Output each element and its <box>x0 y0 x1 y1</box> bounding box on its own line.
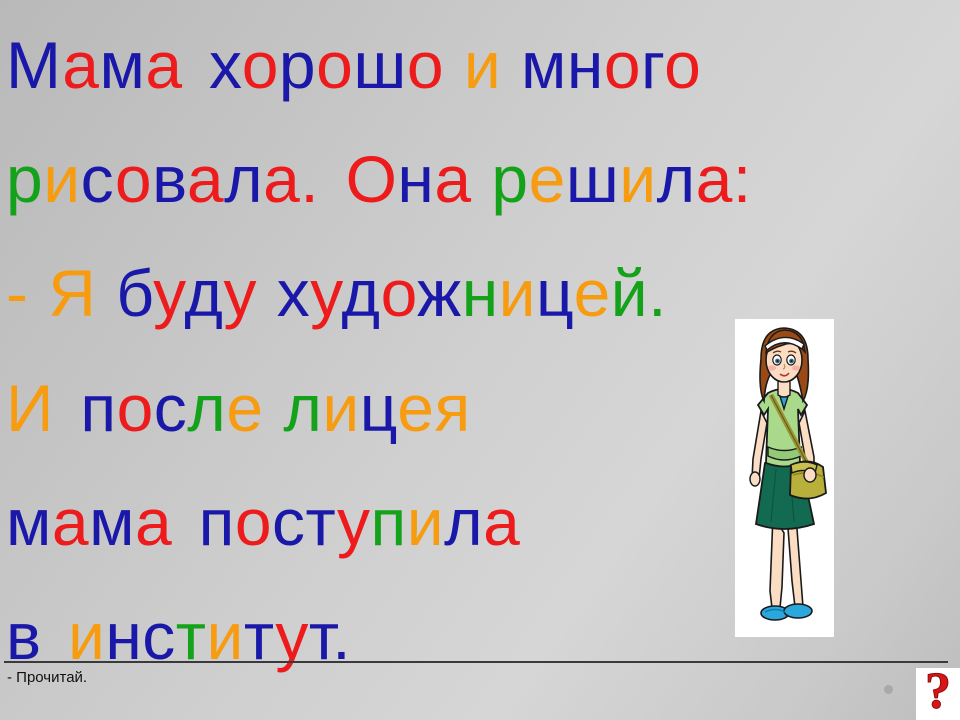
letter: н <box>567 28 604 102</box>
letter: а <box>696 142 733 216</box>
word: художницей. <box>277 256 667 330</box>
word: - <box>6 256 28 330</box>
letter: о <box>381 256 417 330</box>
footer-caption: - Прочитай. <box>7 669 87 686</box>
letter: - <box>6 256 28 330</box>
letter: а <box>52 485 89 559</box>
letter: о <box>407 28 444 102</box>
letter: о <box>242 28 279 102</box>
word: решила: <box>491 142 751 216</box>
letter: н <box>462 256 499 330</box>
letter: ж <box>417 256 462 330</box>
letter: : <box>733 142 752 216</box>
letter: л <box>187 371 226 445</box>
letter: И <box>6 371 54 445</box>
letter: ц <box>360 371 398 445</box>
letter: х <box>277 256 311 330</box>
letter: п <box>80 371 116 445</box>
letter: о <box>316 28 353 102</box>
letter: м <box>89 485 135 559</box>
help-button[interactable]: ? <box>916 668 960 720</box>
word: мама <box>6 485 172 559</box>
letter: д <box>342 256 381 330</box>
letter: д <box>184 256 223 330</box>
word: поступила <box>199 485 521 559</box>
letter: ц <box>536 256 574 330</box>
young-woman-icon <box>735 319 834 637</box>
letter: а <box>434 142 471 216</box>
letter: ш <box>353 28 406 102</box>
letter: и <box>407 485 444 559</box>
letter: е <box>397 371 434 445</box>
letter: ш <box>566 142 619 216</box>
letter: б <box>116 256 153 330</box>
letter: й <box>611 256 648 330</box>
word: много <box>521 28 701 102</box>
letter: о <box>664 28 701 102</box>
letter: я <box>435 371 471 445</box>
letter: н <box>397 142 434 216</box>
letter: е <box>226 371 263 445</box>
letter: О <box>346 142 398 216</box>
letter: х <box>209 28 242 102</box>
text-line-2: рисовала. Она решила: <box>6 122 916 236</box>
letter: у <box>310 256 341 330</box>
letter: . <box>300 142 319 216</box>
word: и <box>464 28 501 102</box>
letter: е <box>574 256 611 330</box>
letter: е <box>529 142 566 216</box>
letter: а <box>263 142 300 216</box>
text-line-1: Мама хорошо и много <box>6 8 916 122</box>
letter: м <box>99 28 145 102</box>
word: Я <box>48 256 96 330</box>
slide-indicator-dot[interactable] <box>884 685 893 694</box>
letter: у <box>337 485 371 559</box>
letter: М <box>6 28 62 102</box>
letter: р <box>6 142 43 216</box>
letter: и <box>499 256 536 330</box>
word: Мама <box>6 28 183 102</box>
letter: л <box>283 371 322 445</box>
letter: л <box>657 142 696 216</box>
word: после <box>80 371 263 445</box>
letter: м <box>6 485 52 559</box>
letter: и <box>43 142 80 216</box>
letter: г <box>641 28 664 102</box>
letter: а <box>62 28 99 102</box>
word: хорошо <box>209 28 444 102</box>
letter: с <box>81 142 115 216</box>
word: Она <box>346 142 472 216</box>
letter: а <box>145 28 182 102</box>
letter: л <box>224 142 263 216</box>
letter: о <box>117 371 154 445</box>
letter: у <box>223 256 257 330</box>
footer-divider <box>4 661 948 663</box>
letter: у <box>153 256 184 330</box>
letter: р <box>491 142 528 216</box>
letter: в <box>152 142 187 216</box>
illustration-young-woman <box>735 319 834 637</box>
word: рисовала. <box>6 142 319 216</box>
letter: . <box>648 256 667 330</box>
letter: с <box>154 371 188 445</box>
slide-canvas: Мама хорошо и много рисовала. Она решила… <box>0 0 960 720</box>
letter: м <box>521 28 567 102</box>
letter: а <box>187 142 224 216</box>
letter: п <box>199 485 235 559</box>
letter: а <box>483 485 520 559</box>
word: И <box>6 371 54 445</box>
letter: Я <box>48 256 96 330</box>
letter: о <box>604 28 641 102</box>
letter: а <box>135 485 172 559</box>
letter: и <box>619 142 656 216</box>
question-mark-icon: ? <box>925 666 951 718</box>
letter: п <box>371 485 407 559</box>
letter: о <box>115 142 152 216</box>
word: буду <box>116 256 257 330</box>
letter: о <box>235 485 272 559</box>
word: лицея <box>283 371 470 445</box>
letter: л <box>444 485 483 559</box>
letter: т <box>306 485 337 559</box>
letter: и <box>322 371 359 445</box>
letter: с <box>272 485 306 559</box>
letter: и <box>464 28 501 102</box>
letter: р <box>279 28 316 102</box>
